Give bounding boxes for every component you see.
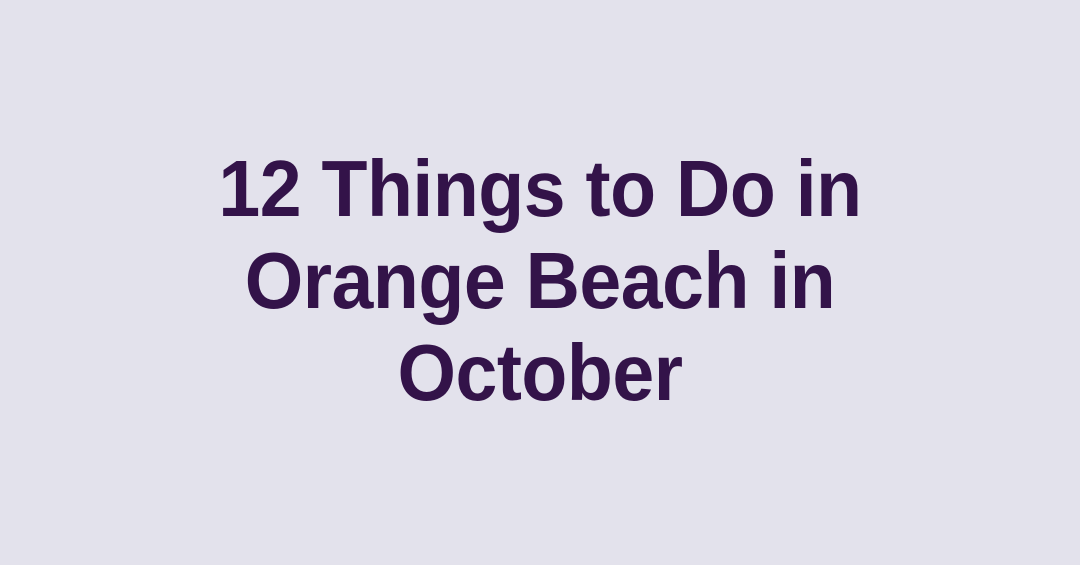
page-title: 12 Things to Do in Orange Beach in Octob… <box>89 143 991 419</box>
headline-line-2: Orange Beach in <box>89 235 991 327</box>
headline-block: 12 Things to Do in Orange Beach in Octob… <box>0 143 1080 419</box>
headline-line-3: October <box>89 327 991 419</box>
headline-line-1: 12 Things to Do in <box>89 143 991 235</box>
title-card: 12 Things to Do in Orange Beach in Octob… <box>0 0 1080 565</box>
